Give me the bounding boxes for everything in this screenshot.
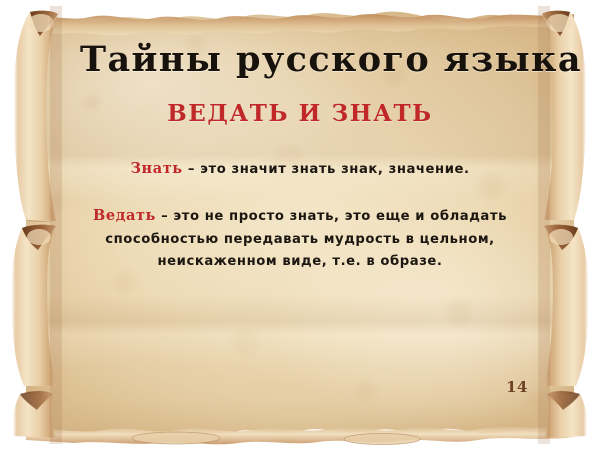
paragraph-znat-text: это значит знать знак, значение. — [200, 162, 469, 177]
keyword-znat: Знать — [130, 160, 182, 177]
scroll-left-curl — [0, 6, 62, 444]
paragraph-vedat: Ведать – это не просто знать, это еще и … — [80, 204, 520, 274]
torn-top-edge — [26, 5, 574, 39]
dash-vedat: – — [156, 209, 173, 224]
torn-bottom-edge — [26, 411, 574, 445]
paragraph-znat: Знать – это значит знать знак, значение. — [80, 157, 520, 182]
parchment-scroll: Тайны русского языка ВЕДАТЬ И ЗНАТЬ Знат… — [26, 6, 574, 444]
dash-znat: – — [183, 162, 200, 177]
page-number: 14 — [506, 378, 528, 396]
keyword-vedat: Ведать — [93, 207, 156, 224]
scroll-content: Тайны русского языка ВЕДАТЬ И ЗНАТЬ Знат… — [80, 42, 520, 274]
page-subtitle: ВЕДАТЬ И ЗНАТЬ — [80, 100, 520, 127]
screenshot-root: Тайны русского языка ВЕДАТЬ И ЗНАТЬ Знат… — [0, 0, 600, 456]
page-title: Тайны русского языка — [80, 42, 520, 79]
